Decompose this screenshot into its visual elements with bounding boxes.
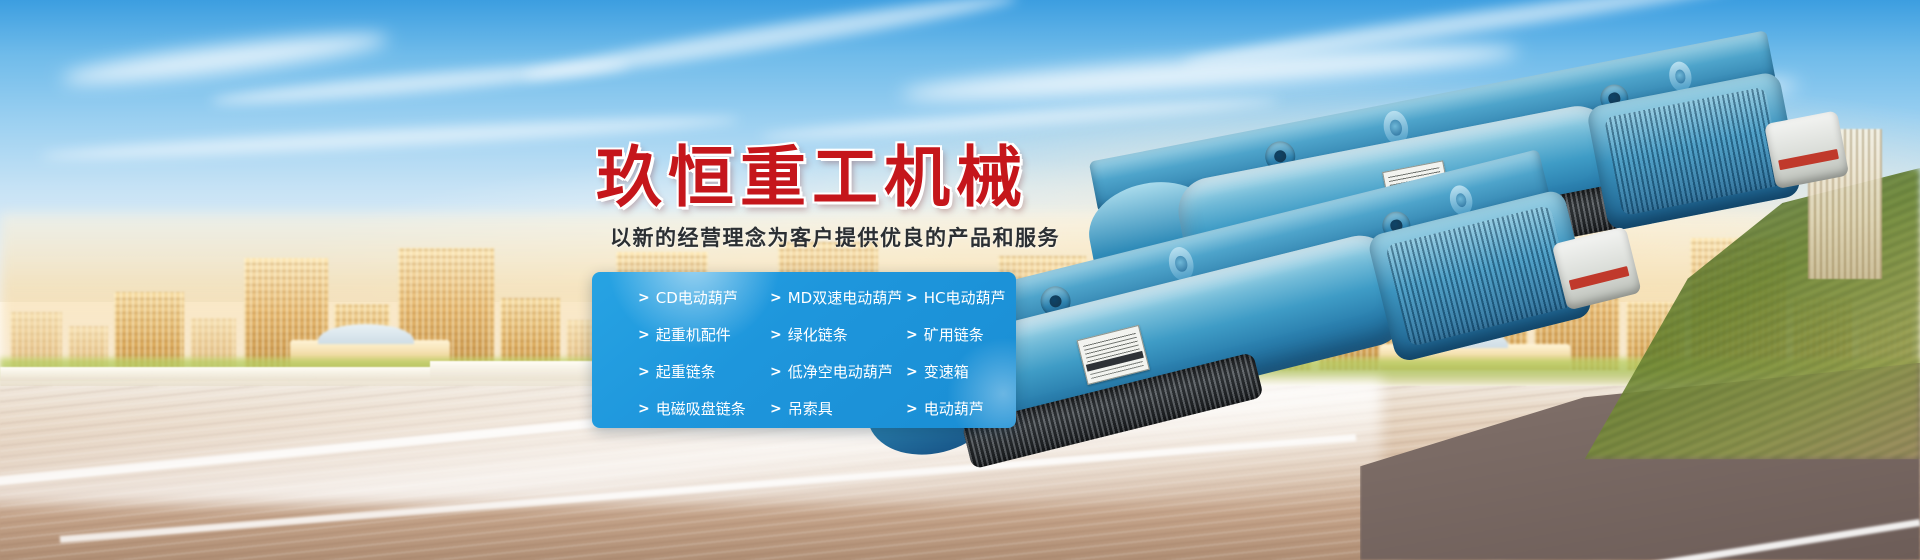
company-headline: 玖恒重工机械 xyxy=(596,124,1028,220)
product-label: CD电动葫芦 xyxy=(656,287,738,308)
chevron-right-icon: > xyxy=(638,365,650,379)
product-label: 吊索具 xyxy=(788,398,833,419)
product-link-cd-hoist[interactable]: > CD电动葫芦 xyxy=(638,287,738,308)
product-label: 变速箱 xyxy=(924,361,969,382)
product-label: 矿用链条 xyxy=(924,324,984,345)
product-label: 电动葫芦 xyxy=(924,398,984,419)
promo-banner: 玖恒重工机械 以新的经营理念为客户提供优良的产品和服务 > CD电动葫芦 > M… xyxy=(0,0,1920,560)
product-link-md-dual-speed-hoist[interactable]: > MD双速电动葫芦 xyxy=(770,287,902,308)
product-link-electric-hoist[interactable]: > 电动葫芦 xyxy=(906,398,984,419)
chevron-right-icon: > xyxy=(770,328,782,342)
product-label: 起重链条 xyxy=(656,361,716,382)
product-link-crane-parts[interactable]: > 起重机配件 xyxy=(638,324,731,345)
product-row: > 起重链条 > 低净空电动葫芦 > 变速箱 xyxy=(592,352,1016,391)
chevron-right-icon: > xyxy=(906,402,918,416)
product-category-box: > CD电动葫芦 > MD双速电动葫芦 > HC电动葫芦 > 起重机配件 > 绿… xyxy=(592,272,1016,428)
product-row: > CD电动葫芦 > MD双速电动葫芦 > HC电动葫芦 xyxy=(592,278,1016,317)
chevron-right-icon: > xyxy=(906,365,918,379)
product-link-low-headroom-hoist[interactable]: > 低净空电动葫芦 xyxy=(770,361,893,382)
product-link-slings[interactable]: > 吊索具 xyxy=(770,398,833,419)
product-label: 绿化链条 xyxy=(788,324,848,345)
hoist-gearbox xyxy=(1764,110,1849,189)
gearbox-label-strip xyxy=(1779,149,1839,169)
chevron-right-icon: > xyxy=(638,328,650,342)
product-label: 起重机配件 xyxy=(656,324,731,345)
company-tagline: 以新的经营理念为客户提供优良的产品和服务 xyxy=(610,222,1060,252)
product-link-magnetic-chuck-chain[interactable]: > 电磁吸盘链条 xyxy=(638,398,746,419)
product-row: > 电磁吸盘链条 > 吊索具 > 电动葫芦 xyxy=(592,389,1016,428)
product-link-mining-chain[interactable]: > 矿用链条 xyxy=(906,324,984,345)
product-link-gearbox[interactable]: > 变速箱 xyxy=(906,361,969,382)
product-label: 低净空电动葫芦 xyxy=(788,361,893,382)
product-link-hc-hoist[interactable]: > HC电动葫芦 xyxy=(906,287,1006,308)
chevron-right-icon: > xyxy=(638,291,650,305)
product-link-lifting-chain[interactable]: > 起重链条 xyxy=(638,361,716,382)
chevron-right-icon: > xyxy=(638,402,650,416)
chevron-right-icon: > xyxy=(906,328,918,342)
chevron-right-icon: > xyxy=(906,291,918,305)
chevron-right-icon: > xyxy=(770,291,782,305)
product-label: MD双速电动葫芦 xyxy=(788,287,903,308)
product-link-greening-chain[interactable]: > 绿化链条 xyxy=(770,324,848,345)
product-row: > 起重机配件 > 绿化链条 > 矿用链条 xyxy=(592,315,1016,354)
chevron-right-icon: > xyxy=(770,365,782,379)
product-label: 电磁吸盘链条 xyxy=(656,398,746,419)
gearbox-label-strip xyxy=(1568,266,1629,290)
chevron-right-icon: > xyxy=(770,402,782,416)
product-label: HC电动葫芦 xyxy=(924,287,1006,308)
